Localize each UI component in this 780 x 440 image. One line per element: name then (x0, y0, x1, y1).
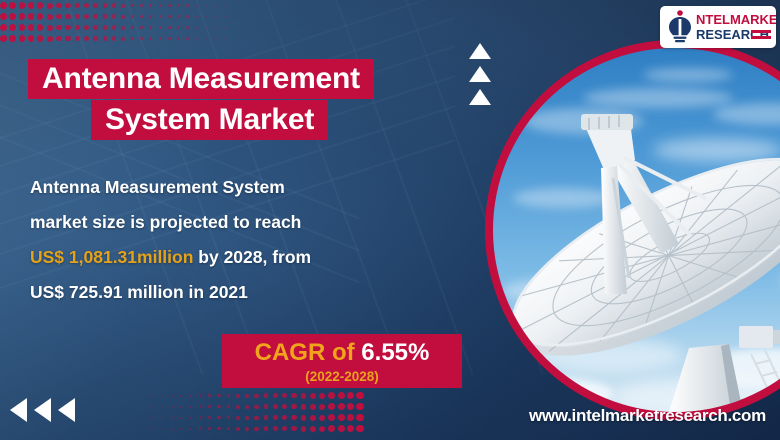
forecast-value-suffix: by 2028, from (193, 247, 311, 267)
cagr-badge: CAGR of 6.55% (2022-2028) (222, 334, 462, 388)
lightbulb-icon (667, 10, 693, 44)
satellite-dish-photo-ring (485, 40, 780, 420)
cagr-label: CAGR of (255, 339, 362, 366)
website-url[interactable]: www.intelmarketresearch.com (529, 406, 766, 426)
market-summary-text: Antenna Measurement System market size i… (30, 170, 450, 310)
triangle-left-icon (34, 398, 51, 422)
logo-line-top: NTELMARKET (696, 12, 776, 27)
triangle-up-icon (469, 89, 491, 105)
forecast-value: US$ 1,081.31million (30, 247, 193, 267)
cagr-period: (2022-2028) (222, 368, 462, 386)
intelmarket-research-logo[interactable]: NTELMARKET RESEARCH (660, 6, 776, 48)
summary-line-1: Antenna Measurement System (30, 170, 450, 205)
triangle-left-icon (58, 398, 75, 422)
page-title-line-1: Antenna Measurement (28, 59, 374, 99)
logo-bars-icon (751, 30, 771, 42)
triangle-left-icon (10, 398, 27, 422)
cagr-value: 6.55% (361, 339, 429, 366)
summary-line-3: US$ 1,081.31million by 2028, from (30, 240, 450, 275)
page-title-line-2: System Market (91, 100, 328, 140)
market-report-banner: NTELMARKET RESEARCH Antenna Measurement … (0, 0, 780, 440)
triangle-up-icon (469, 66, 491, 82)
summary-line-2: market size is projected to reach (30, 205, 450, 240)
satellite-dish-photo (493, 48, 780, 412)
decor-dot-grid-top-left (0, 0, 250, 45)
satellite-dish-icon (493, 48, 780, 412)
decor-dot-grid-bottom-left (140, 392, 370, 440)
cagr-headline: CAGR of 6.55% (222, 338, 462, 368)
triangle-up-icon (469, 43, 491, 59)
summary-line-4: US$ 725.91 million in 2021 (30, 275, 450, 310)
